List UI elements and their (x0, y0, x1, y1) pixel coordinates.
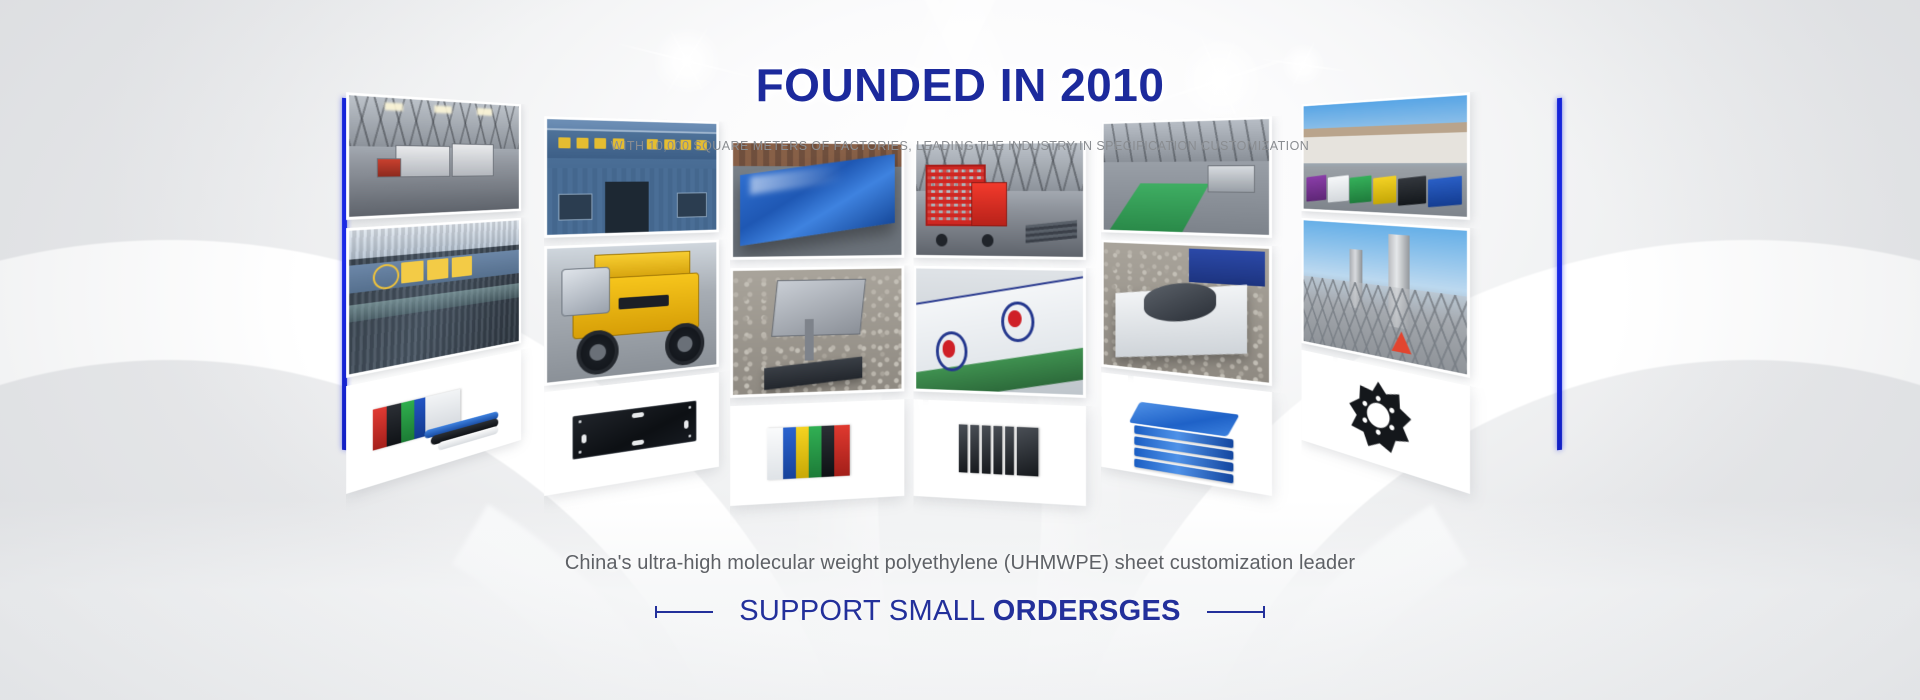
cta-rule-left (655, 606, 713, 618)
panel-image-c1r3 (349, 353, 519, 490)
panel-image-c1r1 (349, 95, 519, 217)
gallery-panel[interactable] (913, 265, 1086, 398)
gallery-panel[interactable] (913, 399, 1086, 506)
gallery-panel[interactable] (346, 350, 521, 494)
gallery-panel[interactable] (913, 140, 1086, 260)
gallery-panel[interactable] (730, 399, 904, 506)
gallery-panel[interactable] (1101, 239, 1272, 386)
panel-image-c2r1 (547, 119, 716, 235)
gallery-panel[interactable] (1101, 372, 1272, 496)
cta-row: SUPPORT SMALL ORDERSGES (0, 595, 1920, 628)
gallery-panel[interactable] (1101, 116, 1272, 238)
gallery-panel[interactable] (346, 218, 521, 378)
panel-image-c4r3 (916, 402, 1083, 503)
panel-image-c5r2 (1104, 242, 1269, 382)
page-title: FOUNDED IN 2010 (0, 58, 1920, 112)
cta-text: SUPPORT SMALL ORDERSGES (739, 595, 1181, 628)
panel-image-c4r2 (916, 268, 1083, 394)
panel-image-c2r3 (547, 375, 716, 492)
gallery-panel[interactable] (1301, 218, 1470, 378)
gallery-panel[interactable] (544, 116, 719, 238)
panel-image-c4r1 (916, 143, 1083, 257)
cta-text-light: SUPPORT SMALL (739, 595, 992, 627)
banner-root: FOUNDED IN 2010 WITH 10,000 SQUARE METER… (0, 0, 1920, 700)
gallery-panel[interactable] (544, 372, 719, 496)
panel-image-c6r1 (1304, 95, 1467, 217)
cta-text-bold: ORDERSGES (993, 595, 1181, 627)
panel-image-c6r3 (1304, 353, 1467, 490)
page-subtitle: WITH 10,000 SQUARE METERS OF FACTORIES, … (0, 139, 1920, 153)
panel-image-c3r2 (733, 268, 901, 394)
gallery-panel[interactable] (730, 265, 904, 398)
panel-image-c6r2 (1304, 220, 1467, 374)
gallery-panel[interactable] (544, 239, 719, 386)
gallery-panel[interactable] (1301, 350, 1470, 494)
gear-icon (1344, 369, 1415, 465)
panel-image-c3r1 (733, 143, 901, 257)
gallery-panel[interactable] (730, 140, 904, 260)
panel-image-c3r3 (733, 402, 901, 503)
panel-image-c5r1 (1104, 119, 1269, 235)
lead-statement: China's ultra-high molecular weight poly… (0, 552, 1920, 575)
panel-image-c1r2 (349, 220, 519, 374)
cta-rule-right (1207, 606, 1265, 618)
panel-image-c5r3 (1104, 375, 1269, 492)
panel-image-c2r2 (547, 242, 716, 382)
